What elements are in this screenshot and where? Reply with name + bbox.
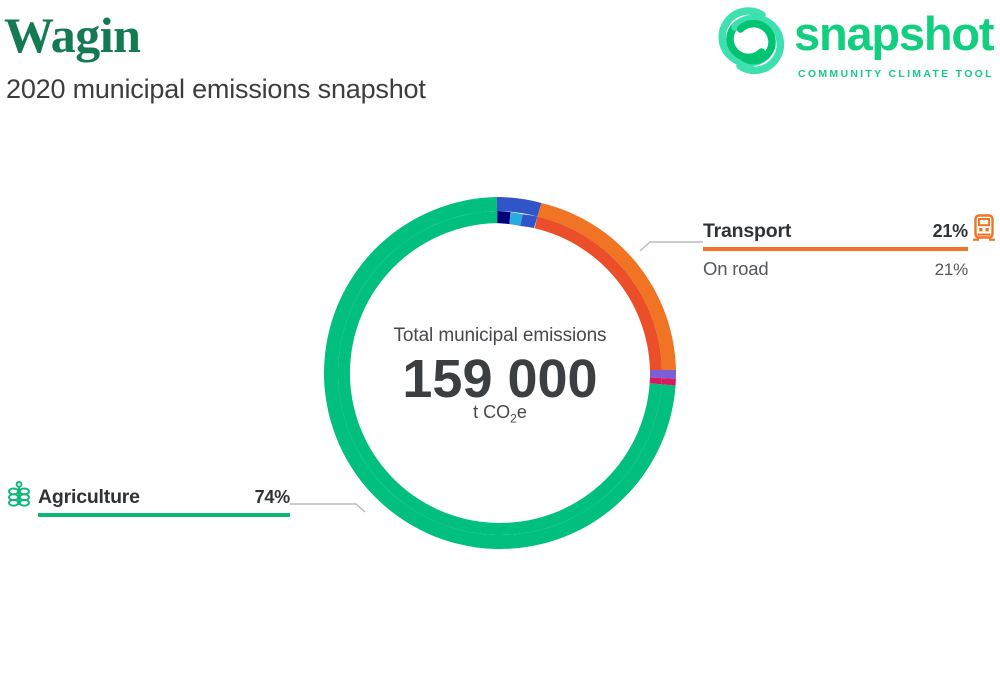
unit-prefix: t CO bbox=[473, 402, 510, 422]
legend-transport-sub: On road 21% bbox=[703, 258, 968, 280]
legend-transport[interactable]: Transport 21% On road 21% bbox=[703, 220, 968, 280]
subslice-residential bbox=[497, 211, 510, 224]
legend-transport-name: Transport bbox=[703, 220, 791, 243]
legend-agriculture-bar bbox=[38, 513, 290, 517]
legend-transport-percent: 21% bbox=[933, 221, 968, 242]
leader-line-agriculture bbox=[290, 504, 365, 512]
legend-agriculture-main: Agriculture 74% bbox=[38, 486, 290, 509]
leader-line-transport bbox=[640, 242, 703, 251]
unit-suffix: e bbox=[517, 402, 527, 422]
legend-agriculture-percent: 74% bbox=[255, 487, 290, 508]
snapshot-report-page: Wagin 2020 municipal emissions snapshot … bbox=[0, 0, 1000, 670]
donut-center-value: 159 000 bbox=[0, 348, 1000, 410]
legend-transport-sub-name: On road bbox=[703, 258, 768, 280]
donut-center-label: Total municipal emissions bbox=[0, 325, 1000, 347]
legend-transport-main: Transport 21% bbox=[703, 220, 968, 243]
wheat-icon bbox=[6, 481, 32, 509]
legend-transport-bar bbox=[703, 247, 968, 251]
legend-agriculture[interactable]: Agriculture 74% bbox=[38, 486, 290, 517]
legend-transport-sub-percent: 21% bbox=[935, 260, 968, 280]
subslice-industrial bbox=[520, 214, 537, 228]
emissions-donut-chart: Total municipal emissions 159 000 t CO2e bbox=[0, 0, 1000, 670]
train-icon bbox=[971, 214, 997, 242]
unit-subscript: 2 bbox=[510, 412, 517, 426]
legend-agriculture-name: Agriculture bbox=[38, 486, 140, 509]
donut-center-unit: t CO2e bbox=[0, 402, 1000, 426]
